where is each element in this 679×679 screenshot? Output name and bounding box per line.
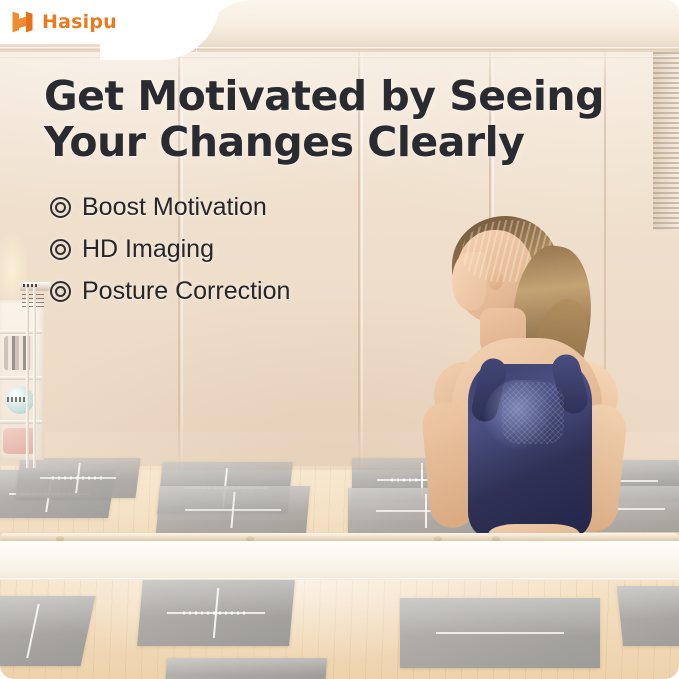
mat-tick-marks	[51, 477, 104, 480]
mirrored-mat	[156, 486, 310, 534]
brand-logo[interactable]: Hasipu	[10, 8, 117, 36]
shelf-ball-label	[7, 397, 27, 402]
mat-cross-horizontal	[39, 477, 116, 479]
yoga-mat	[137, 580, 295, 646]
page-title: Get Motivated by Seeing Your Changes Cle…	[44, 74, 604, 165]
mat-cross-horizontal	[167, 612, 264, 614]
baseboard	[0, 541, 679, 581]
vertical-pole	[33, 288, 36, 468]
yoga-mat-model	[400, 598, 600, 668]
yoga-mat	[617, 586, 679, 646]
hasipu-h-monogram-icon	[10, 9, 35, 35]
shelf-towels	[4, 336, 34, 370]
logo-badge-notch	[196, 0, 256, 60]
list-item: HD Imaging	[50, 237, 604, 262]
yoga-mat	[165, 658, 327, 679]
headline-line-2: Your Changes Clearly	[44, 120, 604, 164]
shelf-cushion	[3, 428, 36, 454]
blind-shadow	[653, 52, 679, 230]
list-item: Posture Correction	[50, 279, 604, 304]
double-circle-bullet-icon	[50, 281, 71, 302]
list-item: Boost Motivation	[50, 195, 604, 220]
marketing-copy: Get Motivated by Seeing Your Changes Cle…	[44, 74, 604, 321]
double-circle-bullet-icon	[50, 197, 71, 218]
top-highlight	[484, 380, 568, 476]
feature-label: Posture Correction	[82, 279, 290, 304]
product-lifestyle-banner: Hasipu Get Motivated by Seeing Your Chan…	[0, 0, 679, 679]
feature-label: HD Imaging	[82, 237, 214, 262]
yoga-mat	[0, 596, 95, 666]
feature-list: Boost Motivation HD Imaging Posture Corr…	[50, 195, 604, 304]
mat-cross-vertical	[230, 492, 235, 528]
mat-cross-horizontal	[436, 632, 564, 634]
mat-cross-vertical	[213, 588, 219, 638]
headline-line-1: Get Motivated by Seeing	[44, 74, 604, 118]
brand-name: Hasipu	[42, 13, 117, 32]
double-circle-bullet-icon	[50, 239, 71, 260]
mat-cross-horizontal	[185, 509, 281, 511]
storage-shelf	[0, 300, 44, 460]
mat-cross-vertical	[26, 604, 39, 657]
feature-label: Boost Motivation	[82, 195, 267, 220]
mat-tick-marks	[182, 612, 249, 615]
wall-fixture-marking	[23, 284, 39, 287]
vertical-pole	[26, 288, 29, 468]
